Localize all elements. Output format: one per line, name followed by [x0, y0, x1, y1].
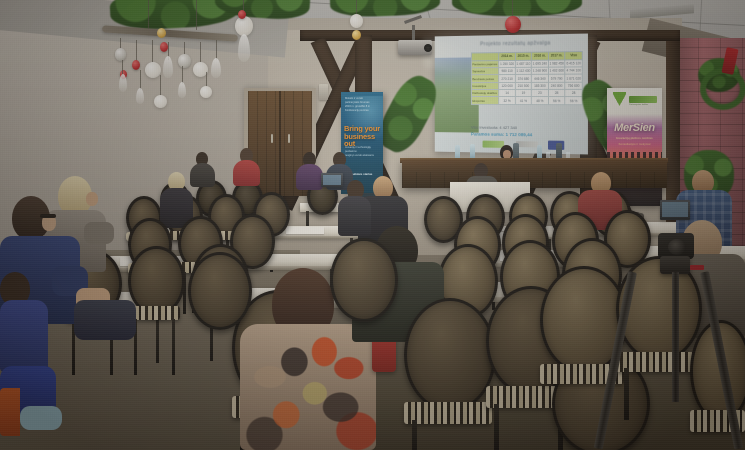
slide-row-label: Darbuotojų skaičius [471, 90, 498, 97]
slide-cell: 1 671 020 [565, 74, 582, 82]
slide-cell: 56 % [565, 97, 582, 105]
slide-table-row: Investicijos 120 000 210 500 185 300 240… [471, 82, 582, 90]
red-ball-ornament [132, 60, 140, 70]
silver-ball-ornament [115, 48, 126, 61]
chair-back [188, 252, 252, 330]
desk-edge [262, 236, 358, 239]
conference-room-photo: Projekto rezultatų apžvalga 2014 m. 2015… [0, 0, 745, 450]
icicle-ornament [136, 88, 144, 104]
paper-handout [286, 227, 324, 234]
slide-title: Projekto rezultatų apžvalga [461, 40, 570, 48]
attendee-shoe [20, 406, 62, 430]
tree-logo-icon [613, 92, 626, 106]
snow-ball-ornament [200, 86, 212, 98]
attendee-torso-floral [240, 324, 376, 450]
slide-cell: 1 402 660 [548, 67, 565, 75]
banner-right-title: MerSien [609, 122, 660, 134]
slide-th: 2016 m. [532, 52, 549, 60]
slide-th: Viso [565, 52, 582, 60]
projector-lens-icon [424, 44, 432, 52]
snow-ball-ornament [235, 16, 253, 36]
icicle-ornament [119, 74, 127, 92]
chair-leg [624, 368, 629, 420]
slide-partner-logo-icon [516, 141, 538, 147]
ornament-string [148, 0, 149, 32]
banner-right-logo-bar [629, 96, 657, 103]
tripod-centre-column[interactable] [672, 272, 679, 402]
slide-cell: 4 744 100 [565, 67, 582, 75]
ornament-string [512, 0, 513, 16]
banner-right-subtitle-1: Inovacijų plėtros centras [610, 136, 659, 140]
laptop-screen-glow [323, 175, 341, 185]
ornament-string [200, 42, 201, 64]
slide-cell: 446 340 [532, 75, 549, 83]
gold-ball-ornament [157, 28, 166, 38]
slide-th: 2014 m. [499, 52, 515, 60]
chair-seat [404, 402, 492, 424]
slide-cell: 210 500 [515, 82, 531, 89]
door-handle-icon[interactable] [288, 134, 290, 143]
laptop-screen-glow [662, 202, 688, 217]
banner-left-subtext: Inovacijų ir technologijų perdavimo reng… [345, 146, 380, 157]
ornament-string [140, 70, 141, 90]
chair-leg [172, 319, 175, 375]
snow-ball-ornament [145, 62, 161, 78]
slide-cell: 270 210 [499, 75, 515, 82]
slide-cell: 240 800 [548, 82, 565, 90]
chair-leg [412, 420, 417, 450]
silver-ball-ornament [178, 54, 191, 68]
slide-cell: 1 695 240 [532, 60, 549, 68]
slide-cell: 32 % [499, 97, 515, 104]
slide-cell: 41 % [515, 97, 531, 104]
ornament-string [196, 0, 197, 30]
slide-cell: 579 790 [548, 75, 565, 83]
slide-cell: 185 300 [532, 82, 549, 89]
slide-footnote-total: Viso investuota: 4 427 340 [471, 125, 517, 130]
chair-back [404, 298, 496, 412]
door-handle-icon[interactable] [271, 134, 273, 143]
slide-cell: 23 [532, 90, 549, 97]
gold-ball-ornament [352, 30, 361, 40]
slide-cell: 980 110 [499, 67, 515, 74]
slide-cell: 19 [515, 90, 531, 97]
slide-cell: 756 600 [565, 82, 582, 90]
attendee-lap [74, 300, 136, 340]
bar-front-panelling [402, 172, 667, 188]
chair-leg [494, 404, 499, 450]
wall-speaker [319, 84, 328, 100]
attendee-torso-blue [0, 300, 48, 372]
door-centre-split [279, 91, 281, 196]
ornament-string [160, 75, 161, 97]
red-ball-ornament [505, 16, 521, 33]
slide-cell: 6 415 120 [565, 59, 582, 67]
slide-table-row: Eksportas 32 % 41 % 48 % 56 % 56 % [471, 97, 582, 105]
slide-th: 2017 m. [548, 52, 565, 60]
attendee-torso [296, 164, 323, 190]
icicle-ornament [178, 82, 186, 98]
slide-cell: 1 487 110 [515, 60, 531, 68]
banner-right-logo-caption: Partnerystės tinklas [629, 104, 657, 106]
attendee-torso [233, 160, 260, 186]
tripod-brand-label [690, 265, 704, 270]
snow-ball-ornament [350, 14, 363, 28]
slide-footnote-grant: Paramos suma: 1 712 089,44 [471, 132, 532, 138]
ornament-string [216, 40, 217, 60]
ornament-string [136, 40, 137, 62]
slide-row-label: Bendrasis pelnas [471, 75, 498, 82]
red-ball-ornament [238, 10, 246, 19]
slide-th: 2015 m. [515, 52, 531, 60]
slide-cell: 28 [565, 89, 582, 97]
orange-object [0, 388, 20, 436]
slide-cell: 28 [548, 90, 565, 98]
slide-cell: 56 % [548, 97, 565, 105]
christmas-wreath [700, 68, 745, 110]
slide-cell: 1 982 450 [548, 59, 565, 67]
banner-left-top-text: Mokslo ir verslo partnerystės forumas 20… [345, 97, 373, 113]
attendee-face [86, 192, 98, 206]
slide-row-label: Eksportas [471, 97, 498, 104]
slide-cell: 1 250 320 [499, 60, 515, 68]
snow-ball-ornament [154, 95, 167, 108]
slide-cell: 1 248 900 [532, 67, 549, 75]
red-ball-ornament [160, 42, 168, 52]
slide-row-label: Investicijos [471, 82, 498, 89]
slide-cell: 48 % [532, 97, 549, 104]
slide-data-table: 2014 m. 2015 m. 2016 m. 2017 m. Viso Par… [471, 51, 583, 105]
slide-cell: 14 [499, 90, 515, 97]
camera-lens-icon [668, 239, 686, 255]
slide-cell: 1 112 430 [515, 67, 531, 75]
banner-right-subtitle-2: Konsultacijos ir mokymai [610, 142, 659, 146]
slide-cell: 374 680 [515, 75, 531, 82]
attendee-torso [190, 163, 215, 187]
attendee-arm [84, 222, 114, 244]
glasses-icon [40, 214, 56, 218]
chair-back [330, 238, 398, 322]
slide-table-row: Darbuotojų skaičius 14 19 23 28 28 [471, 89, 582, 97]
slide-cell: 120 000 [499, 82, 515, 89]
banner-left-headline: Bring your business out [344, 125, 382, 148]
attendee-torso [338, 196, 371, 236]
